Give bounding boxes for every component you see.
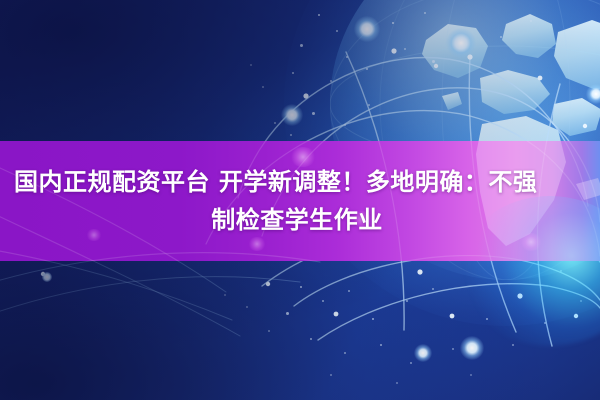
headline-text-block: 国内正规配资平台 开学新调整！多地明确：不强 制检查学生作业 [0, 141, 600, 261]
headline-line-2: 制检查学生作业 [14, 201, 586, 239]
headline-line-1: 国内正规配资平台 开学新调整！多地明确：不强 [14, 163, 586, 201]
banner-image: 国内正规配资平台 开学新调整！多地明确：不强 制检查学生作业 [0, 0, 600, 400]
